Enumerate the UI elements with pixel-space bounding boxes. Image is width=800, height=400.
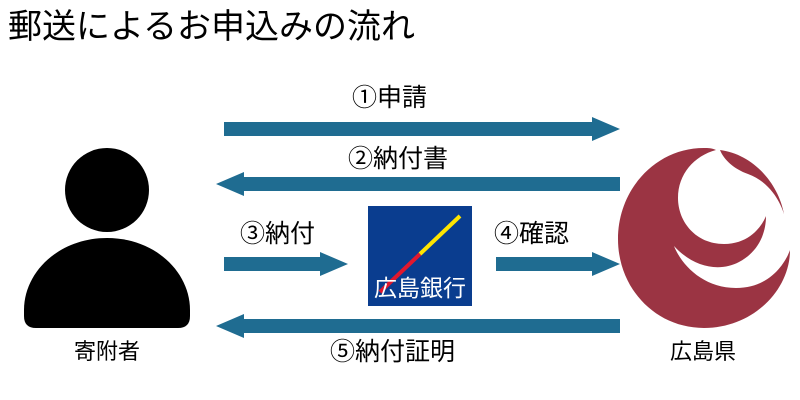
- arrow-step-5: [216, 314, 620, 338]
- hiroshima-prefecture-emblem-icon: [608, 138, 798, 334]
- hiroshima-bank-logo-icon: 広島銀行: [368, 206, 472, 306]
- hiroshima-bank-logo: 広島銀行: [368, 206, 472, 306]
- actor-donor-label: 寄附者: [12, 338, 202, 366]
- arrow-label-step-3: ③納付: [240, 220, 315, 250]
- postal-application-flow-diagram: 郵送によるお申込みの流れ 寄附者 広島県 ①申請 ②納付書 ③納付 ④確認: [0, 0, 800, 400]
- arrow-label-step-2: ②納付書: [348, 145, 448, 175]
- bank-logo-text: 広島銀行: [374, 275, 466, 301]
- actor-prefecture-label: 広島県: [608, 338, 798, 366]
- arrow-step-4: [496, 252, 620, 276]
- actor-prefecture: 広島県: [608, 138, 798, 366]
- arrow-label-step-4: ④確認: [494, 220, 569, 250]
- page-title: 郵送によるお申込みの流れ: [8, 6, 415, 50]
- arrow-step-1: [224, 117, 620, 141]
- actor-donor: 寄附者: [12, 138, 202, 366]
- person-silhouette-icon: [12, 138, 202, 334]
- arrow-step-2: [216, 172, 620, 196]
- arrow-label-step-1: ①申請: [352, 84, 427, 114]
- arrow-step-3: [224, 252, 348, 276]
- arrow-label-step-5: ⑤納付証明: [330, 338, 455, 368]
